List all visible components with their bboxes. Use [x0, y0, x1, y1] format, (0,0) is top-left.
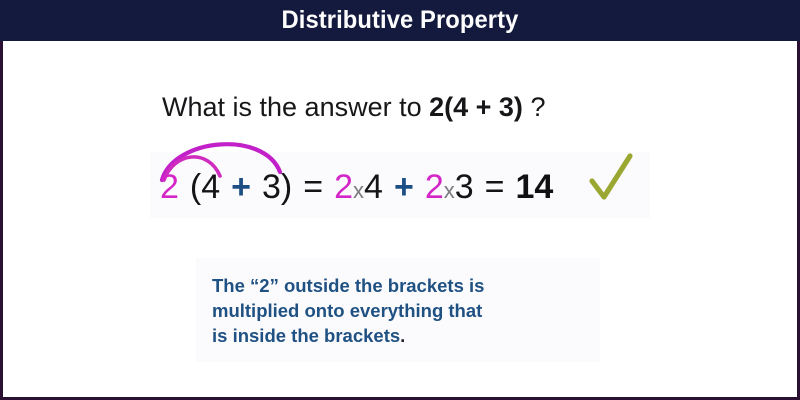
- equation-bracket-close: 3): [262, 168, 292, 206]
- equation-answer: 14: [516, 168, 554, 206]
- equation-multiplier-left: 2: [160, 168, 179, 206]
- question-expression: 2(4 + 3): [429, 92, 523, 122]
- question-prefix: What is the answer to: [162, 92, 429, 122]
- slide-canvas: Distributive Property What is the answer…: [0, 0, 800, 400]
- frame-border-left: [0, 41, 3, 400]
- equation-equals-second: =: [485, 168, 505, 206]
- explanation-line-1: The “2” outside the brackets is: [212, 273, 592, 298]
- question-suffix: ?: [523, 92, 546, 122]
- equation-line: 2(4+3)=2x4+2x3=14: [160, 164, 553, 210]
- equation-plus-mid: +: [394, 168, 414, 206]
- page-title: Distributive Property: [20, 0, 780, 41]
- equation-two-a: 2: [334, 168, 353, 206]
- explanation-line-3: is inside the brackets: [212, 325, 400, 346]
- check-mark-icon: [588, 152, 634, 204]
- equation-times-a: x: [353, 178, 364, 203]
- explanation-line-2: multiplied onto everything that: [212, 298, 592, 323]
- equation-four: 4: [364, 168, 383, 206]
- equation-three: 3: [455, 168, 474, 206]
- equation-plus-inner: +: [231, 168, 251, 206]
- equation-times-b: x: [444, 178, 455, 203]
- equation-equals-first: =: [303, 168, 323, 206]
- explanation-line-3-wrap: is inside the brackets.: [212, 323, 592, 348]
- equation-bracket-open: (4: [190, 168, 220, 206]
- equation-two-b: 2: [425, 168, 444, 206]
- question-line: What is the answer to 2(4 + 3) ?: [162, 92, 545, 123]
- explanation-period: .: [400, 325, 405, 346]
- explanation-note: The “2” outside the brackets is multipli…: [212, 273, 592, 348]
